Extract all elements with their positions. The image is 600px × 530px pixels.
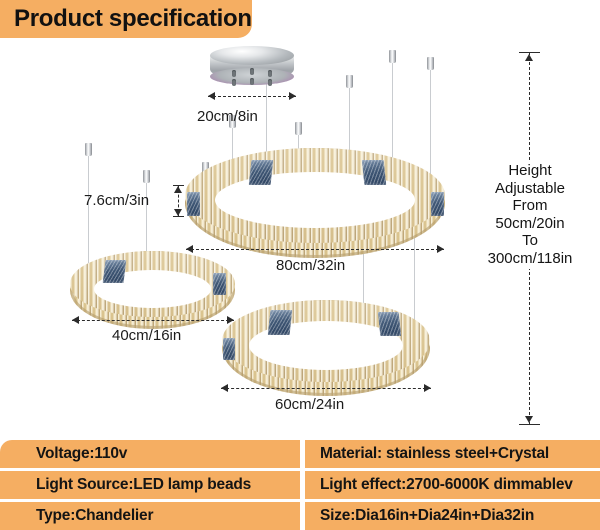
cable-hole	[232, 70, 236, 77]
arrow-left-icon	[208, 92, 215, 100]
height-note-line-6: 300cm/118in	[470, 250, 590, 268]
accent-segment	[378, 312, 402, 336]
small-ring-width-label: 40cm/16in	[112, 327, 181, 344]
canopy-width-dimension	[208, 96, 296, 97]
ring-thickness-dimension	[178, 185, 179, 217]
canopy-top-plate	[210, 46, 294, 65]
accent-segment	[268, 310, 293, 335]
dimension-cap	[519, 52, 540, 53]
specification-table: Voltage:110v Material: stainless steel+C…	[0, 440, 600, 530]
dimension-cap	[519, 424, 540, 425]
cable-connector-icon	[389, 50, 396, 63]
large-ring-width-dimension	[186, 249, 444, 250]
arrow-right-icon	[424, 384, 431, 392]
product-spec-image: Product specification	[0, 0, 600, 530]
cable-connector-icon	[427, 57, 434, 70]
crystal-ring-small	[70, 251, 235, 329]
accent-segment	[223, 338, 235, 360]
arrow-right-icon	[289, 92, 296, 100]
accent-segment	[431, 192, 444, 216]
arrow-left-icon	[72, 316, 79, 324]
dimension-line	[208, 96, 296, 97]
height-note-line-4: 50cm/20in	[470, 215, 590, 233]
accent-segment	[249, 160, 274, 185]
height-note-line-1: Height	[470, 162, 590, 180]
chandelier-diagram: 20cm/8in 7.6cm/3in 80cm/32in	[0, 38, 600, 438]
arrow-down-icon	[525, 416, 533, 423]
arrow-right-icon	[437, 245, 444, 253]
cable-connector-icon	[295, 122, 302, 135]
spec-light-source: Light Source:LED lamp beads	[0, 471, 300, 499]
height-note-line-2: Adjustable	[470, 180, 590, 198]
ceiling-canopy	[210, 46, 294, 86]
medium-ring-width-label: 60cm/24in	[275, 396, 344, 413]
spec-voltage: Voltage:110v	[0, 440, 300, 468]
arrow-up-icon	[525, 54, 533, 61]
cable-connector-icon	[85, 143, 92, 156]
spec-size: Size:Dia16in+Dia24in+Dia32in	[305, 502, 600, 530]
cable-hole	[250, 78, 254, 85]
cable-connector-icon	[346, 75, 353, 88]
page-title-banner: Product specification	[0, 0, 252, 38]
height-note-line-5: To	[470, 232, 590, 250]
dimension-line	[72, 320, 234, 321]
medium-ring-width-dimension	[221, 388, 431, 389]
small-ring-width-dimension	[72, 320, 234, 321]
spec-light-effect: Light effect:2700-6000K dimmablev	[305, 471, 600, 499]
spec-type: Type:Chandelier	[0, 502, 300, 530]
accent-segment	[103, 260, 127, 283]
cable-connector-icon	[143, 170, 150, 183]
dimension-line	[186, 249, 444, 250]
cable-hole	[268, 79, 272, 86]
crystal-ring-medium	[222, 300, 430, 396]
table-row: Light Source:LED lamp beads Light effect…	[0, 471, 600, 499]
height-adjustable-note: Height Adjustable From 50cm/20in To 300c…	[470, 160, 590, 269]
cable-hole	[268, 70, 272, 77]
table-row: Voltage:110v Material: stainless steel+C…	[0, 440, 600, 468]
spec-material: Material: stainless steel+Crystal	[305, 440, 600, 468]
accent-segment	[213, 273, 226, 295]
dimension-cap	[173, 216, 184, 217]
large-ring-width-label: 80cm/32in	[276, 257, 345, 274]
dimension-line	[221, 388, 431, 389]
cable-hole	[232, 79, 236, 86]
arrow-down-icon	[174, 209, 182, 216]
page-title: Product specification	[0, 5, 252, 33]
table-row: Type:Chandelier Size:Dia16in+Dia24in+Dia…	[0, 502, 600, 530]
crystal-ring-large	[185, 148, 445, 258]
accent-segment	[362, 160, 387, 185]
arrow-left-icon	[221, 384, 228, 392]
arrow-up-icon	[174, 186, 182, 193]
accent-segment	[187, 192, 200, 216]
height-note-line-3: From	[470, 197, 590, 215]
cable-hole	[250, 68, 254, 75]
canopy-width-label: 20cm/8in	[197, 108, 258, 125]
ring-thickness-label: 7.6cm/3in	[84, 192, 149, 209]
